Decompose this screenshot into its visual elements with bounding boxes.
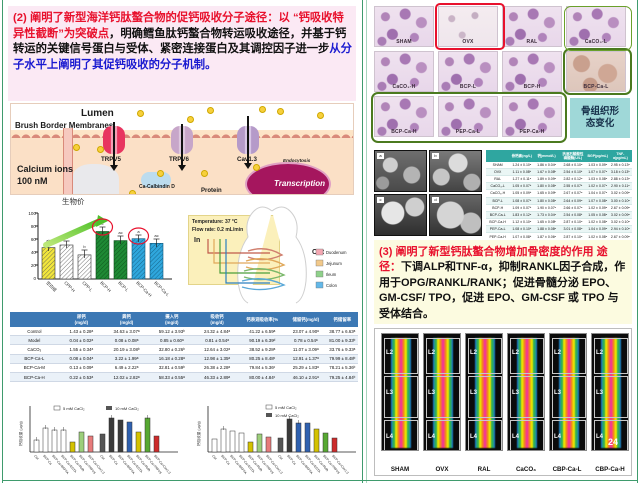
table-cell: 79.25 ± 4.84ᵇ (327, 372, 358, 381)
table-cell: 80.00 ± 4.84ᶜ (240, 372, 285, 381)
col-head-fecal-ca: 粪钙(mg/d) (104, 312, 149, 327)
svg-text:5 mM CaCl₂: 5 mM CaCl₂ (63, 406, 85, 411)
bone-marker-row: SHAM1.24 ± 0.10ᵃ1.86 ± 0.04ᵃ2.68 ± 0.10ᵃ… (486, 162, 632, 169)
table-cell: 0.13 ± 0.09ᵃ (59, 363, 104, 372)
bone-marker-row: PEP-Ca-L1.08 ± 0.10ᵇ1.88 ± 0.08ᵃ3.01 ± 0… (486, 226, 632, 233)
bone-marker-cell: 1.86 ± 0.04ᵃ (534, 162, 559, 169)
bone-marker-header-row: 骨钙素(ng/L) 钙(mmol/L) 抗酒石酸酸性磷酸酶(U/L) BGP(p… (486, 150, 632, 162)
dxa-label-l2: L2 (386, 350, 393, 356)
bone-marker-cell: 2.54 ± 0.08ᵇ (559, 211, 587, 218)
calcium-uptake-chart-left: 钙吸收量 (μg/g) 5 mM CaCl₂ 10 mM CaCl₂ (14, 400, 182, 478)
col-head-retention-rate: 钙储留率 (327, 312, 358, 327)
point-3-line-1: 阐明了新型钙肽螯合物增加骨密度的作用 (396, 246, 594, 258)
table-cell: 78.21 ± 5.36ᵇ (327, 363, 358, 372)
dxa-roi-l3 (468, 376, 502, 418)
table-header-row: 尿钙(mg/d) 粪钙(mg/d) 摄入钙(mg/d) 吸收钙(mg/d) 钙表… (10, 312, 358, 327)
histology-label: RAL (503, 39, 561, 45)
table-cell: 3.22 ± 1.99ᵃ (104, 354, 149, 363)
histology-label: SHAM (375, 39, 433, 45)
dxa-group-label-cbp-ca-l: CBP-Ca-L (545, 466, 589, 473)
bone-marker-cell: 1.02 ± 0.07ᵃ (587, 183, 609, 190)
histology-tile-caco3-h: CaCO₃-H (374, 51, 434, 92)
bone-marker-row-label: BCP-Ca-H (486, 219, 509, 226)
sem-panel-a: a (374, 150, 427, 192)
bone-marker-cell: 1.05 ± 0.07ᵇ (509, 183, 534, 190)
table-cell: 38.52 ± 9.28ᵃ (240, 345, 285, 354)
table-cell: 33.76 ± 9.33ᵃ (327, 345, 358, 354)
calcium-transport-diagram: Lumen Brush Border Membranes Calcium ion… (10, 103, 354, 195)
svg-text:Ctrl: Ctrl (33, 454, 39, 461)
svg-text:5 mM CaCl₂: 5 mM CaCl₂ (275, 405, 297, 410)
bone-marker-cell: 2.90 ± 0.11ᵃ (609, 183, 632, 190)
table-row: BCP-Ca-H0.22 ± 0.53ᵃ12.02 ± 2.82ᵃ58.33 ±… (10, 372, 358, 381)
table-row: BCP-Ca-M0.13 ± 0.09ᵃ6.49 ± 2.22ᵃ32.81 ± … (10, 363, 358, 372)
dxa-roi-l3 (510, 376, 544, 418)
bone-marker-row: BCP-Ca-L1.83 ± 0.12ᵃ1.73 ± 0.04ᵃ2.54 ± 0… (486, 211, 632, 218)
point-2-line-5: 吸收的分子机制。 (126, 59, 216, 71)
table-cell: 24.32 ± 4.84ᵃ (194, 327, 239, 336)
frame-line-right (637, 0, 638, 483)
calbindin-label: Ca-Calbindin D (139, 184, 175, 190)
trpv6-label: TRPV6 (169, 156, 189, 163)
table-cell: 81.00 ± 9.33ᵇ (327, 336, 358, 345)
bone-marker-cell: 1.12 ± 0.10ᵃ (509, 219, 534, 226)
bone-marker-row-label: SHAM (486, 162, 509, 169)
bm-col-tracp: 抗酒石酸酸性磷酸酶(U/L) (559, 150, 587, 162)
dxa-scan-cbp-ca-h: L2L3L4 (591, 333, 629, 451)
svg-text:Ctrl: Ctrl (211, 454, 217, 461)
calcium-ion (259, 106, 266, 113)
table-cell: 11.07 ± 3.09ᵃ (285, 345, 327, 354)
table-cell: 20.19 ± 3.08ᵇ (104, 345, 149, 354)
bone-marker-cell: 2.67 ± 0.07ᵃ (559, 190, 587, 197)
calcium-ion (201, 170, 208, 177)
table-row-label: CaCO₃ (10, 345, 59, 354)
dxa-label-l4: L4 (428, 434, 435, 440)
table-cell: 79.84 ± 5.36ᶜ (240, 363, 285, 372)
page-number: 24 (608, 437, 618, 447)
ovx-highlight-ring (435, 3, 505, 50)
svg-text:ac: ac (154, 233, 158, 238)
bone-marker-cell: 1.02 ± 0.08ᵃ (587, 219, 609, 226)
point-2-line-2b: 为突破点 (64, 28, 109, 40)
calcium-ion (129, 190, 136, 195)
table-cell: 90.19 ± 6.39ᵈ (240, 336, 285, 345)
trpv5-label: TRPV5 (101, 156, 121, 163)
bm-col-calcium: 钙(mmol/L) (534, 150, 559, 162)
calcium-balance-table: 尿钙(mg/d) 粪钙(mg/d) 摄入钙(mg/d) 吸收钙(mg/d) 钙表… (10, 312, 358, 382)
table-cell: 0.08 ± 0.08ᵃ (104, 336, 149, 345)
bone-marker-row-label: PEP-Ca-L (486, 226, 509, 233)
histology-label: BCP-H (503, 84, 561, 90)
bone-marker-cell: 1.03 ± 0.09ᵃ (587, 162, 609, 169)
bone-marker-cell: 1.89 ± 0.09ᵃ (534, 175, 559, 182)
svg-text:CPP-L: CPP-L (81, 280, 94, 293)
bone-marker-cell: 1.05 ± 0.08ᵃ (587, 211, 609, 218)
svg-text:10 mM CaCl₂: 10 mM CaCl₂ (115, 406, 139, 411)
sem-panel-d: d (429, 194, 482, 236)
bone-marker-cell: 1.83 ± 0.12ᵃ (509, 211, 534, 218)
bone-marker-cell: 1.80 ± 0.08ᵃ (534, 197, 559, 204)
table-cell: 12.91 ± 1.37ᵃ (285, 354, 327, 363)
bone-marker-body: SHAM1.24 ± 0.10ᵃ1.86 ± 0.04ᵃ2.68 ± 0.10ᵃ… (486, 162, 632, 241)
dxa-group-label-ovx: OVX (420, 466, 464, 473)
bone-marker-cell: 3.00 ± 0.10ᵃ (609, 197, 632, 204)
dxa-label-l2: L2 (596, 350, 603, 356)
svg-text:BCP-H: BCP-H (99, 280, 112, 293)
brush-border-label: Brush Border Membranes (15, 121, 113, 130)
bone-marker-cell: 2.82 ± 0.12ᵃ (559, 175, 587, 182)
bcp-ca-l-highlight-ring (563, 48, 632, 95)
bone-marker-table: 骨钙素(ng/L) 钙(mmol/L) 抗酒石酸酸性磷酸酶(U/L) BGP(p… (486, 150, 632, 241)
calcium-ion (157, 170, 164, 177)
svg-text:10 mM CaCl₂: 10 mM CaCl₂ (275, 413, 299, 418)
table-cell: 34.63 ± 3.07ᵃ (104, 327, 149, 336)
svg-text:Colon: Colon (326, 283, 338, 288)
col-head-urine-ca: 尿钙(mg/d) (59, 312, 104, 327)
table-cell: 46.10 ± 2.91ᵃ (285, 372, 327, 381)
table-cell: 23.07 ± 4.90ᵃ (285, 327, 327, 336)
bone-marker-row: BCP-Ca-H1.12 ± 0.10ᵃ1.65 ± 0.08ᵇ2.87 ± 0… (486, 219, 632, 226)
bone-marker-cell: 2.54 ± 0.10ᵇ (559, 168, 587, 175)
bone-marker-cell: 3.02 ± 0.09ᵃ (609, 211, 632, 218)
dxa-roi-l2 (384, 338, 418, 374)
table-cell: 0.08 ± 0.04ᵃ (59, 354, 104, 363)
bone-marker-cell: 2.94 ± 0.10ᵃ (609, 226, 632, 233)
table-cell: 0.78 ± 0.54ᵃ (285, 336, 327, 345)
left-column: (2) 阐明了新型海洋钙肽螯合物的促钙吸收分子途径：以 “钙吸收特异性截断”为突… (6, 0, 358, 483)
frame-line-left (2, 0, 3, 483)
svg-text:0: 0 (33, 276, 36, 281)
table-cell: 46.33 ± 2.89ᵃ (194, 372, 239, 381)
bone-marker-cell: 2.67 ± 0.09ᵃ (609, 204, 632, 211)
histology-tile-bcp-h: BCP-H (502, 51, 562, 92)
bio-chart-svg: 10080 6040 200 (12, 205, 180, 305)
bone-marker-cell: 1.05 ± 0.09ᵇ (509, 190, 534, 197)
table-cell: 79.99 ± 8.48ᵇ (327, 354, 358, 363)
bm-col-bgp: BGP(pg/mL) (587, 150, 609, 162)
dxa-scan-caco3: L2L3L4 (507, 333, 545, 451)
tight-junction-wall (63, 128, 73, 195)
bottom-row-highlight-ring (371, 92, 567, 143)
histology-grid: SHAM OVX RAL CaCO₃-L CaCO₃-H BCP-L BCP-H… (374, 6, 632, 146)
dxa-label-l2: L2 (512, 350, 519, 356)
point-3-line-2b: 下调ALP和TNF-α，抑制RANKL因子 (401, 261, 581, 273)
dxa-label-l4: L4 (554, 434, 561, 440)
col-head-retained-ca: 储留钙(mg/d) (285, 312, 327, 327)
svg-text:Ileum: Ileum (326, 272, 337, 277)
point-2-line-4a: 连接蛋白及其调控因子进一步 (182, 43, 329, 55)
dxa-label-l4: L4 (470, 434, 477, 440)
dxa-label-l2: L2 (428, 350, 435, 356)
svg-text:ac: ac (118, 230, 122, 235)
bone-marker-row-label: OVX (486, 168, 509, 175)
histology-label: BCP-L (439, 84, 497, 90)
bone-marker-cell: 1.04 ± 0.09ᵃ (587, 226, 609, 233)
dxa-group-label-sham: SHAM (378, 466, 422, 473)
bone-marker-row: BCP-L1.08 ± 0.07ᵇ1.80 ± 0.08ᵃ2.64 ± 0.09… (486, 197, 632, 204)
calcium-ion (137, 110, 144, 117)
right-column: SHAM OVX RAL CaCO₃-L CaCO₃-H BCP-L BCP-H… (370, 0, 635, 483)
bone-marker-cell: 2.66 ± 0.07ᵃ (559, 204, 587, 211)
dxa-label-l3: L3 (554, 390, 561, 396)
bone-morphology-callout-text: 骨组织形态变化 (581, 106, 619, 130)
bone-marker-cell: 2.88 ± 0.13ᵃ (609, 175, 632, 182)
dxa-group-label-caco3: CaCO₃ (504, 466, 548, 473)
bone-marker-row: CaCO₃-H1.05 ± 0.09ᵇ1.65 ± 0.09ᵇ2.67 ± 0.… (486, 190, 632, 197)
bone-marker-cell: 1.09 ± 0.07ᵇ (509, 204, 534, 211)
sem-tag-d: d (432, 197, 439, 203)
svg-text:a: a (137, 229, 140, 234)
svg-text:Ctrl: Ctrl (99, 454, 105, 461)
col-head-absorption-rate: 钙表观吸收率(% (240, 312, 285, 327)
svg-text:BCP-L: BCP-L (117, 280, 130, 293)
bone-morphology-callout: 骨组织形态变化 (570, 98, 630, 138)
table-cell: 80.25 ± 8.48ᶜ (240, 354, 285, 363)
svg-text:钙吸收量 (μg/g): 钙吸收量 (μg/g) (18, 421, 23, 446)
table-cell: 0.22 ± 0.53ᵃ (59, 372, 104, 381)
bone-marker-cell: 1.07 ± 0.07ᵃ (587, 168, 609, 175)
table-cell: 32.81 ± 0.59ᵇ (149, 363, 194, 372)
dxa-label-l4: L4 (512, 434, 519, 440)
table-cell: 12.98 ± 1.35ᵃ (194, 354, 239, 363)
bone-marker-cell: 1.73 ± 0.04ᵃ (534, 211, 559, 218)
calcium-ions-value: 100 nM (17, 176, 48, 186)
dxa-scan-panel: L2L3L4 L2L3L4 L2L3L4 L2L3L4 L2L3L4 L2L3L… (374, 328, 632, 476)
caco3-l-highlight-ring (564, 6, 632, 51)
dxa-group-label-ral: RAL (462, 466, 506, 473)
col-head-absorbed-ca: 吸收钙(mg/d) (194, 312, 239, 327)
bone-marker-row: OVX1.11 ± 0.08ᵇ1.67 ± 0.08ᵇ2.54 ± 0.10ᵇ1… (486, 168, 632, 175)
table-cell: 0.81 ± 0.54ᵃ (194, 336, 239, 345)
bone-marker-cell: 1.65 ± 0.08ᵇ (534, 219, 559, 226)
table-row-label: BCP-Ca-M (10, 363, 59, 372)
sem-tag-c: c (377, 197, 384, 203)
table-cell: 16.18 ± 0.28ᵃ (149, 354, 194, 363)
table-cell: 1.43 ± 0.28ᵃ (59, 327, 104, 336)
point-2-text-block: (2) 阐明了新型海洋钙肽螯合物的促钙吸收分子途径：以 “钙吸收特异性截断”为突… (8, 6, 356, 101)
frame-line-center-a (362, 0, 363, 483)
svg-text:Duodenum: Duodenum (326, 250, 347, 255)
svg-text:Jejunum: Jejunum (326, 261, 342, 266)
bone-marker-cell: 2.64 ± 0.09ᵃ (559, 197, 587, 204)
svg-text:CPP-H: CPP-H (63, 280, 76, 293)
bone-marker-row: RAL1.27 ± 0.11ᵃ1.89 ± 0.09ᵃ2.82 ± 0.12ᵃ1… (486, 175, 632, 182)
table-cell: 58.33 ± 0.55ᵃ (149, 372, 194, 381)
point-3-marker: (3) (379, 246, 392, 258)
bm-col-blank (486, 150, 509, 162)
table-row: Model0.04 ± 0.02ᵃ0.08 ± 0.08ᵃ0.85 ± 0.60… (10, 336, 358, 345)
table-cell: 0.85 ± 0.60ᵃ (149, 336, 194, 345)
svg-text:钙吸收量 (μg/g): 钙吸收量 (μg/g) (196, 421, 201, 446)
table-row: Control1.43 ± 0.28ᵃ34.63 ± 3.07ᵃ59.12 ± … (10, 327, 358, 336)
bone-marker-cell: 1.02 ± 0.09ᵃ (587, 204, 609, 211)
bone-marker-cell: 1.88 ± 0.08ᵃ (534, 226, 559, 233)
calcium-ion (207, 107, 214, 114)
transcription-label: Transcription (274, 179, 325, 188)
protein-label: Protein (201, 188, 222, 194)
bone-marker-cell: 3.02 ± 0.09ᵃ (609, 190, 632, 197)
bioavailability-bar-chart: 10080 6040 200 (12, 205, 180, 305)
cav13-label: Cav1.3 (237, 156, 257, 163)
bone-marker-cell: 1.65 ± 0.09ᵇ (534, 190, 559, 197)
table-cell: 38.77 ± 6.63ᵃ (327, 327, 358, 336)
bone-marker-cell: 3.02 ± 0.10ᵃ (609, 219, 632, 226)
bone-marker-cell: 1.24 ± 0.10ᵃ (509, 162, 534, 169)
histology-tile-ral: RAL (502, 6, 562, 47)
calcium-ions-label: Calcium ions (17, 164, 73, 174)
bone-marker-cell: 1.07 ± 0.08ᵃ (587, 197, 609, 204)
dxa-label-l4: L4 (386, 434, 393, 440)
calcium-ion (277, 108, 284, 115)
bone-marker-row-label: BCP-L (486, 197, 509, 204)
table-cell: 59.12 ± 3.93ᵇ (149, 327, 194, 336)
bone-marker-row-label: CaCO₃-H (486, 190, 509, 197)
perfusion-svg: Duodenum Jejunum Ileum Colon (184, 203, 360, 307)
table-cell: 0.04 ± 0.02ᵃ (59, 336, 104, 345)
bone-marker-row-label: BCP-H (486, 204, 509, 211)
dxa-scan-ral: L2L3L4 (465, 333, 503, 451)
uptake-right-svg: 钙吸收量 (μg/g) 5 mM CaCl₂ 10 mM CaCl₂ (192, 400, 360, 478)
sem-tag-a: a (377, 153, 384, 159)
dxa-label-l2: L2 (554, 350, 561, 356)
bone-marker-cell: 1.08 ± 0.07ᵇ (509, 197, 534, 204)
table-body: Control1.43 ± 0.28ᵃ34.63 ± 3.07ᵃ59.12 ± … (10, 327, 358, 382)
calcium-ion (187, 116, 194, 123)
point-2-marker: (2) (13, 12, 27, 24)
dxa-roi-l2 (594, 338, 628, 374)
bone-marker-row-label: CaCO₃-L (486, 183, 509, 190)
dxa-label-l3: L3 (512, 390, 519, 396)
dxa-label-l4: L4 (596, 434, 603, 440)
table-cell: 1.55 ± 0.34ᵃ (59, 345, 104, 354)
point-3-text-block: (3) 阐明了新型钙肽螯合物增加骨密度的作用 途径：下调ALP和TNF-α，抑制… (374, 240, 632, 324)
dxa-label-l3: L3 (470, 390, 477, 396)
dxa-label-l3: L3 (428, 390, 435, 396)
sem-panel-c: c (374, 194, 427, 236)
bone-marker-cell: 1.03 ± 0.08ᵃ (587, 175, 609, 182)
dxa-roi-l2 (426, 338, 460, 374)
table-row-label: BCP-Ca-H (10, 372, 59, 381)
col-head-blank (10, 312, 59, 327)
table-cell: 12.02 ± 2.82ᵃ (104, 372, 149, 381)
dxa-label-l3: L3 (386, 390, 393, 396)
bone-marker-cell: 2.55 ± 0.07ᵇ (559, 183, 587, 190)
bone-marker-row-label: RAL (486, 175, 509, 182)
calcium-ion (73, 144, 80, 151)
svg-text:b: b (83, 244, 86, 249)
table-row-label: Model (10, 336, 59, 345)
dxa-roi-l3 (552, 376, 586, 418)
bone-marker-cell: 1.67 ± 0.08ᵇ (534, 168, 559, 175)
table-cell: 32.80 ± 0.26ᵇ (149, 345, 194, 354)
histology-tile-sham: SHAM (374, 6, 434, 47)
intestinal-perfusion-diagram: Temperature: 37 °C Flow rate: 0.2 mL/min… (184, 203, 360, 307)
bm-col-osteocalcin: 骨钙素(ng/L) (509, 150, 534, 162)
dxa-roi-l2 (552, 338, 586, 374)
bone-marker-row-label: BCP-Ca-L (486, 211, 509, 218)
histology-label: CaCO₃-H (375, 84, 433, 90)
table-cell: 41.22 ± 6.59ᵃ (240, 327, 285, 336)
col-head-intake-ca: 摄入钙(mg/d) (149, 312, 194, 327)
calcium-ion (317, 112, 324, 119)
table-row-label: BCP-Ca-L (10, 354, 59, 363)
bone-marker-cell: 1.90 ± 0.07ᵃ (534, 204, 559, 211)
bone-marker-cell: 2.95 ± 0.13ᵃ (609, 162, 632, 169)
bm-col-tnfa: TNF-α(pg/mL) (609, 150, 632, 162)
dxa-scan-sham: L2L3L4 (381, 333, 419, 451)
bone-marker-cell: 1.80 ± 0.08ᵃ (534, 183, 559, 190)
svg-text:BCP-Ca-H: BCP-Ca-H (135, 280, 153, 298)
bone-marker-cell: 1.08 ± 0.10ᵇ (509, 226, 534, 233)
bone-marker-row: BCP-H1.09 ± 0.07ᵇ1.90 ± 0.07ᵃ2.66 ± 0.07… (486, 204, 632, 211)
table-row: BCP-Ca-L0.08 ± 0.04ᵃ3.22 ± 1.99ᵃ16.18 ± … (10, 354, 358, 363)
svg-text:Ctrl: Ctrl (277, 454, 283, 461)
dxa-label-l3: L3 (596, 390, 603, 396)
bone-marker-row: CaCO₃-L1.05 ± 0.07ᵇ1.80 ± 0.08ᵃ2.55 ± 0.… (486, 183, 632, 190)
dxa-roi-l2 (510, 338, 544, 374)
dxa-roi-l3 (384, 376, 418, 418)
table-cell: 26.38 ± 2.28ᵃ (194, 363, 239, 372)
table-cell: 6.49 ± 2.22ᵃ (104, 363, 149, 372)
svg-text:空白组: 空白组 (45, 279, 59, 293)
uptake-left-svg: 钙吸收量 (μg/g) 5 mM CaCl₂ 10 mM CaCl₂ (14, 400, 182, 478)
dxa-roi-l3 (426, 376, 460, 418)
table-cell: 25.29 ± 1.83ᵃ (285, 363, 327, 372)
bone-marker-cell: 3.18 ± 0.13ᵇ (609, 168, 632, 175)
svg-text:BCP-Ca-L: BCP-Ca-L (153, 280, 171, 298)
table-row: CaCO₃1.55 ± 0.34ᵃ20.19 ± 3.08ᵇ32.80 ± 0.… (10, 345, 358, 354)
bone-marker-cell: 1.27 ± 0.11ᵃ (509, 175, 534, 182)
frame-line-center-b (366, 0, 367, 483)
table-row-label: Control (10, 327, 59, 336)
bone-marker-cell: 1.11 ± 0.08ᵇ (509, 168, 534, 175)
calcium-uptake-chart-right: 钙吸收量 (μg/g) 5 mM CaCl₂ 10 mM CaCl₂ (192, 400, 360, 478)
dxa-roi-l2 (468, 338, 502, 374)
point-2-line-1: 阐明了新型海洋钙肽螯合物的促钙吸收分子途径：以 (30, 12, 290, 24)
dxa-roi-l3 (594, 376, 628, 418)
bone-marker-cell: 2.68 ± 0.10ᵃ (559, 162, 587, 169)
calcium-ion (253, 164, 260, 171)
dxa-label-l2: L2 (470, 350, 477, 356)
dxa-group-label-cbp-ca-h: CBP-Ca-H (588, 466, 632, 473)
dxa-scan-ovx: L2L3L4 (423, 333, 461, 451)
sem-panel-b: b (429, 150, 482, 192)
slide-root: (2) 阐明了新型海洋钙肽螯合物的促钙吸收分子途径：以 “钙吸收特异性截断”为突… (0, 0, 639, 483)
dxa-scan-cbp-ca-l: L2L3L4 (549, 333, 587, 451)
bone-marker-cell: 2.87 ± 0.10ᵃ (559, 219, 587, 226)
histology-tile-bcp-l: BCP-L (438, 51, 498, 92)
sem-image-grid: a b c d (374, 150, 482, 236)
lumen-label: Lumen (81, 108, 114, 119)
bone-marker-cell: 1.04 ± 0.07ᵃ (587, 190, 609, 197)
point-2-line-2c: ，明确鳕鱼肽钙螯合物转 (109, 28, 233, 40)
calcium-ion (97, 146, 104, 153)
bone-marker-cell: 3.01 ± 0.08ᵃ (559, 226, 587, 233)
table-cell: 12.64 ± 3.02ᵃ (194, 345, 239, 354)
sem-tag-b: b (432, 153, 439, 159)
